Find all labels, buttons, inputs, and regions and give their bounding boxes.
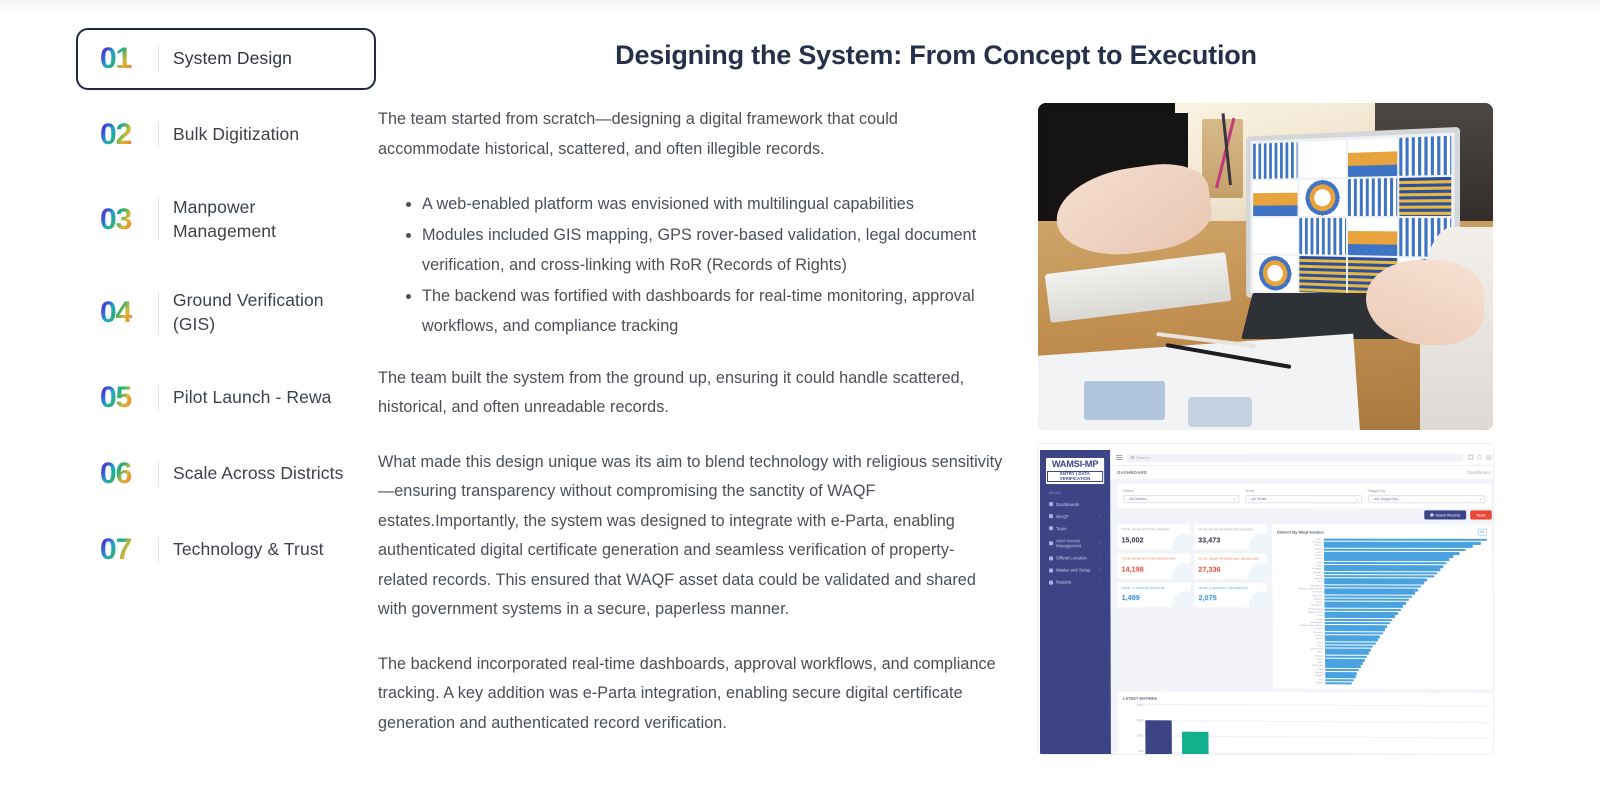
step-label: Pilot Launch - Rewa [173,386,332,410]
district-bar [1325,665,1361,668]
y-axis-tick: 5000 [1123,749,1143,752]
step-item-03[interactable]: 03Manpower Management [76,180,376,259]
feature-bullet-list: A web-enabled platform was envisioned wi… [378,189,1003,342]
paragraph-3: What made this design unique was its aim… [378,448,1003,625]
district-bar-label: Jabalpur [1277,542,1322,544]
filter-select[interactable]: --All District--▾ [1123,495,1239,503]
district-bar-label: Vidisha [1277,558,1322,560]
district-bar-label: Rewa North [1278,648,1323,650]
menu-label: Master and Setup [1056,567,1097,573]
y-axis-tick: 20000 [1123,704,1143,707]
district-bar-label: Sehore [1278,638,1323,640]
step-item-06[interactable]: 06Scale Across Districts [76,443,376,505]
dashboard-menu-item[interactable]: Official Location› [1046,552,1104,564]
stat-value: 2,075 [1198,594,1263,603]
stat-card-row: TOTAL WAQF ESTATES (WAMSI)15,002TOTAL WA… [1117,524,1267,549]
district-bar-label: Dhar [1277,562,1322,564]
chevron-down-icon: ▾ [1480,497,1482,501]
step-label: Scale Across Districts [173,462,343,486]
district-bar-label: Bhagwat [1277,578,1322,580]
district-chart-filter-pill[interactable]: All [1477,529,1487,536]
dashboard-menu-item[interactable]: Team› [1046,523,1104,535]
menu-icon [1049,515,1053,519]
district-bar-label: Narsinghpur [1278,622,1323,624]
district-bar-label: Jabalpur North [1278,612,1323,614]
dashboard-menu-item[interactable]: User Access Management› [1046,535,1104,553]
paragraph-1: The team started from scratch—designing … [378,105,1003,164]
district-bar-label: Raisen [1278,658,1323,660]
step-label: Manpower Management [173,196,352,243]
photo-paper-chart [1188,397,1252,426]
dark-mode-icon[interactable] [1477,455,1482,460]
district-bar-label: Khandwa [1277,572,1322,574]
stat-value: 27,336 [1198,564,1263,573]
step-divider [158,198,159,241]
hamburger-icon[interactable] [1116,455,1122,460]
dashboard-logo: WAMSI-MP ENTRY | DATA VERIFICATION [1046,458,1104,485]
reset-label: Reset [1476,513,1485,517]
search-icon [1431,514,1434,517]
filter-value: --All Tehsil-- [1249,497,1268,501]
filter-actions: Search Records Reset [1117,510,1491,520]
district-bar-label: Rajgarh [1278,675,1323,677]
dashboard-menu-item[interactable]: Reports› [1046,576,1104,588]
step-divider [158,385,159,411]
menu-icon [1049,527,1053,531]
entries-bar: 15002 [1145,720,1172,754]
district-bar [1325,675,1355,678]
district-bar-chart: UjjainJabalpurBhopalGwaliorIndoreRatlamV… [1277,538,1489,685]
dashboard-topbar: Search... [1110,450,1493,466]
dashboard-screenshot: WAMSI-MP ENTRY | DATA VERIFICATION MENU … [1038,444,1493,754]
stat-title: TOTAL WAQF ESTATES (WAMSI-MP) [1121,557,1186,561]
menu-label: User Access Management [1056,538,1097,549]
dashboard-menu-heading: MENU [1049,492,1104,496]
district-bar [1325,682,1351,685]
district-bar-label: Damoh [1278,635,1323,637]
district-bar-label: Harda [1278,618,1323,620]
stat-card: TOTAL WAQF ESTATES (WAMSI-MP)14,198 [1117,553,1190,578]
stat-card-row: LEVEL-2 VERIFIED ESTATES1,499LEVEL-2 VER… [1118,582,1268,608]
step-number: 01 [100,44,152,74]
step-number: 04 [100,298,152,328]
step-divider [158,291,159,334]
latest-entries-y-axis: 20000150001000050000 [1123,704,1144,754]
slide-root: 01System Design02Bulk Digitization03Manp… [0,0,1600,788]
avatar[interactable] [1486,454,1492,460]
chevron-right-icon: › [1100,514,1101,519]
dashboard-menu-list: DashboardsWAQF›Team›User Access Manageme… [1046,499,1104,589]
district-bar-label: Ujjain [1277,538,1322,540]
step-divider [158,46,159,72]
step-number: 07 [100,535,152,565]
district-bar [1325,672,1357,675]
district-bar-label: Chhatarpur [1278,665,1323,667]
filter-value: --All Village/City-- [1372,497,1400,501]
dashboard-menu-item[interactable]: WAQF› [1046,511,1104,523]
menu-icon [1049,503,1053,507]
dashboard-menu-item[interactable]: Master and Setup› [1046,564,1104,576]
district-bar-label: Bhopal [1277,545,1322,547]
step-item-02[interactable]: 02Bulk Digitization [76,104,376,166]
y-axis-tick: 15000 [1123,719,1143,722]
menu-label: Dashboards [1056,502,1098,508]
step-label: Bulk Digitization [173,123,299,147]
district-chart-card: District By Waqf Estates All UjjainJabal… [1272,525,1493,690]
bullet-item: Modules included GIS mapping, GPS rover-… [422,220,1003,281]
bullet-item: A web-enabled platform was envisioned wi… [422,189,1003,220]
breadcrumb-title: DASHBOARD [1117,470,1147,475]
menu-icon [1049,541,1053,545]
menu-label: Team [1056,526,1097,532]
district-bar-row: Mandla [1325,682,1489,685]
body-copy: The team started from scratch—designing … [378,105,1003,763]
stat-card-row: TOTAL WAQF ESTATES (WAMSI-MP)14,198TOTAL… [1117,553,1267,578]
page-title: Designing the System: From Concept to Ex… [556,40,1316,71]
menu-icon [1049,556,1053,560]
stat-card: LEVEL-2 VERIFIED ESTATES1,499 [1118,582,1191,607]
filter-group: District--All District--▾ [1123,489,1239,503]
entries-bar: 11400 [1182,732,1209,754]
chevron-right-icon: › [1100,568,1101,573]
menu-icon [1049,580,1053,584]
district-bar-label: Seoni [1278,652,1323,654]
stat-title: TOTAL WAQF PROPERTIES (WAMSI) [1198,529,1263,533]
district-bar-label: Burhanpur [1277,568,1322,570]
stat-value: 14,198 [1121,564,1186,573]
district-bar-label: Indore [1277,552,1322,554]
step-divider [158,461,159,487]
media-column: WAMSI-MP ENTRY | DATA VERIFICATION MENU … [1038,103,1493,754]
stat-value: 1,499 [1122,593,1187,602]
district-bar-label: Katni [1278,615,1323,617]
district-bar-label: Hoshangabad [1278,608,1323,610]
district-bar [1325,669,1359,672]
stat-title: LEVEL-2 VERIFIED PROPERTIES [1198,587,1263,591]
district-bar-label: Datia [1278,668,1323,670]
district-bar-label: Sidhi [1278,679,1323,681]
step-label: Ground Verification (GIS) [173,289,352,336]
stat-value: 15,002 [1121,535,1186,544]
district-bar-label: Chhindwara [1278,605,1323,607]
step-number: 02 [100,120,152,150]
stat-card: LEVEL-2 VERIFIED PROPERTIES2,075 [1194,583,1267,608]
latest-entries-title: LATEST ENTRIES [1123,696,1490,703]
district-bar-label: Betul [1278,662,1323,664]
dashboard-body: District--All District--▾Tehsil--All Teh… [1110,479,1493,754]
stat-value: 33,473 [1198,535,1263,544]
reset-button[interactable]: Reset [1470,510,1491,519]
district-bar-label: Agar-Malwa [1277,585,1322,587]
step-number: 05 [100,383,152,413]
district-bar-label: Mandla [1278,682,1323,684]
chevron-down-icon: ▾ [1234,497,1236,501]
office-photo [1038,103,1493,430]
y-axis-tick: 10000 [1123,734,1143,737]
district-bar-label: Sagar [1277,565,1322,567]
district-bar-label: Neemuch [1278,592,1323,594]
menu-label: WAQF [1056,514,1097,520]
step-navigation: 01System Design02Bulk Digitization03Manp… [76,28,376,595]
dashboard-main: Search... DASHBOARD Dashboard [1110,450,1493,754]
district-bar-label: Rewa [1277,575,1322,577]
dashboard-menu-item[interactable]: Dashboards [1046,499,1104,511]
paragraph-4: The backend incorporated real-time dashb… [378,650,1003,739]
filter-select[interactable]: --All Tehsil--▾ [1245,495,1362,503]
district-bar-label: Dhamtari (East Nimar) [1278,625,1323,627]
step-item-05[interactable]: 05Pilot Launch - Rewa [76,367,376,429]
search-placeholder: Search... [1137,455,1152,459]
menu-label: Reports [1056,580,1097,586]
district-bar-label: Shivpuri [1278,672,1323,674]
district-bar-label: Satna [1278,642,1323,644]
district-bar-label: Shajapur [1278,598,1323,600]
district-bar-label: Panna [1278,645,1323,647]
dashboard-app: WAMSI-MP ENTRY | DATA VERIFICATION MENU … [1040,450,1493,754]
step-divider [158,537,159,563]
menu-icon [1049,568,1053,572]
stat-card: TOTAL WAQF ESTATES (WAMSI)15,002 [1117,524,1190,549]
step-item-04[interactable]: 04Ground Verification (GIS) [76,273,376,352]
breadcrumb: DASHBOARD Dashboard [1110,466,1493,479]
stat-title: TOTAL WAQF PROPERTIES (WAMSI-MP) [1198,558,1263,562]
chevron-down-icon: ▾ [1356,497,1358,501]
step-number: 03 [100,205,152,235]
step-number: 06 [100,459,152,489]
step-item-07[interactable]: 07Technology & Trust [76,519,376,581]
chevron-right-icon: › [1100,541,1101,546]
latest-entries-chart: 20000150001000050000 1500211400 [1123,704,1491,754]
latest-entries-card: LATEST ENTRIES 20000150001000050000 1500… [1118,692,1493,754]
search-icon [1131,456,1134,459]
menu-label: Official Location [1056,555,1097,561]
stat-card: TOTAL WAQF PROPERTIES (WAMSI)33,473 [1194,525,1267,550]
photo-paper-chart [1084,381,1166,420]
filter-group: Village/City--All Village/City--▾ [1368,489,1485,503]
search-records-label: Search Records [1435,513,1460,517]
district-bar-label: Jhabua [1278,628,1323,630]
filter-group: Tehsil--All Tehsil--▾ [1245,489,1362,503]
breadcrumb-right: Dashboard [1467,470,1491,475]
step-label: Technology & Trust [173,538,324,562]
bullet-item: The backend was fortified with dashboard… [422,281,1003,342]
district-bar-label: Guna [1277,582,1322,584]
filter-group-list: District--All District--▾Tehsil--All Teh… [1123,489,1485,503]
search-records-button[interactable]: Search Records [1424,510,1466,519]
chevron-right-icon: › [1100,580,1101,585]
filter-select[interactable]: --All Village/City--▾ [1368,495,1485,503]
dashboard-sidebar: WAMSI-MP ENTRY | DATA VERIFICATION MENU … [1040,450,1111,754]
dashboard-topbar-tools [1468,454,1492,460]
fullscreen-icon[interactable] [1468,455,1473,460]
stat-title: TOTAL WAQF ESTATES (WAMSI) [1121,528,1186,532]
district-bar-label: Ratlam [1277,555,1322,557]
district-bar [1325,679,1354,682]
dashboard-filter-panel: District--All District--▾Tehsil--All Teh… [1117,484,1491,508]
paragraph-2: The team built the system from the groun… [378,364,1003,423]
district-bar-label: Dewas [1278,602,1323,604]
district-bar-label: Morena [1278,655,1323,657]
stat-card: TOTAL WAQF PROPERTIES (WAMSI-MP)27,336 [1194,554,1267,579]
district-bar-label: Gwalior [1277,548,1322,550]
district-bar-label: Mandsaur [1278,595,1323,597]
top-gradient-strip [0,0,1600,14]
dashboard-search-input[interactable]: Search... [1127,453,1463,461]
filter-value: --All District-- [1127,497,1148,501]
filter-label: District [1123,489,1239,493]
filter-label: Tehsil [1245,489,1362,493]
filter-label: Village/City [1368,489,1485,493]
district-bar-label: Khargone (West Nimar) [1278,588,1323,590]
dashboard-grid: TOTAL WAQF ESTATES (WAMSI)15,002TOTAL WA… [1117,524,1493,689]
step-label: System Design [173,47,292,71]
district-bar-label: Balaghat [1278,632,1323,634]
dashboard-logo-subtitle: ENTRY | DATA VERIFICATION [1047,471,1103,483]
district-chart-title: District By Waqf Estates [1277,529,1324,534]
chevron-right-icon: › [1100,526,1101,531]
chevron-right-icon: › [1100,556,1101,561]
step-divider [158,122,159,148]
stat-title: LEVEL-2 VERIFIED ESTATES [1122,587,1187,591]
step-item-01[interactable]: 01System Design [76,28,376,90]
dashboard-logo-text: WAMSI-MP [1052,459,1098,469]
district-chart-header: District By Waqf Estates All [1277,529,1487,536]
stat-card-column: TOTAL WAQF ESTATES (WAMSI)15,002TOTAL WA… [1117,524,1268,688]
